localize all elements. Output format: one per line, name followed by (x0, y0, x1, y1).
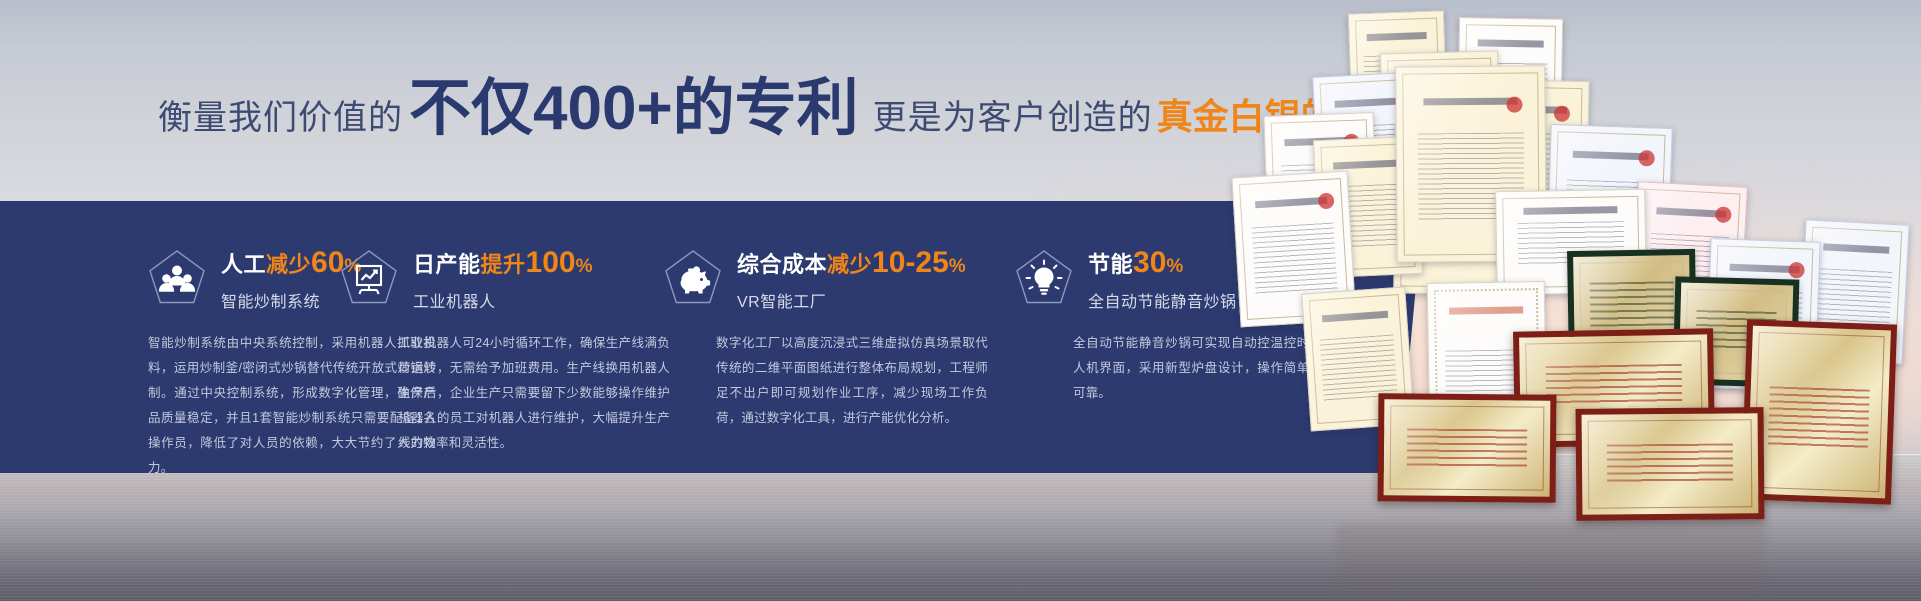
card-subtitle: VR智能工厂 (737, 288, 966, 312)
card-title-prefix: 综合成本 (737, 252, 827, 277)
card-title-unit: % (949, 256, 966, 277)
feature-card-daily-capacity[interactable]: 日产能提升100% 工业机器人 工业机器人可24小时循环工作，确保生产线满负荷运… (330, 201, 656, 473)
card-header: 人工减少60% 智能炒制系统 (148, 247, 330, 309)
card-title-prefix: 日产能 (413, 252, 481, 277)
headline-middle: 更是为客户创造的 (873, 90, 1153, 139)
card-heading-text: 日产能提升100% 工业机器人 (413, 244, 593, 312)
card-title-prefix: 人工 (221, 252, 266, 277)
card-title-emphasis: 提升 (481, 252, 526, 277)
stack-reflection (1336, 524, 1766, 601)
card-title-number: 30 (1133, 246, 1166, 279)
card-title-unit: % (576, 256, 593, 277)
award-plaque-item (1378, 393, 1557, 503)
feature-card-total-cost[interactable]: 综合成本减少10-25% VR智能工厂 数字化工厂以高度沉浸式三维虚拟仿真场景取… (656, 201, 993, 473)
card-title-number: 10-25 (872, 246, 949, 279)
card-title: 日产能提升100% (413, 246, 593, 281)
piggy-bank-icon (664, 249, 722, 307)
banner-stage: 衡量我们价值的 不仅400+的专利 更是为客户创造的 真金白银的效益 (0, 0, 1921, 601)
card-body-text: 数字化工厂以高度沉浸式三维虚拟仿真场景取代传统的二维平面图纸进行整体布局规划，工… (716, 331, 988, 431)
headline-emphasis: 不仅400+的专利 (409, 78, 859, 140)
card-title-prefix: 节能 (1088, 252, 1133, 277)
chart-presentation-icon (340, 249, 398, 307)
headline-lead: 衡量我们价值的 (158, 90, 403, 139)
card-header: 日产能提升100% 工业机器人 (340, 247, 656, 309)
card-heading-text: 综合成本减少10-25% VR智能工厂 (737, 244, 966, 312)
card-title-emphasis: 减少 (827, 252, 872, 277)
card-header: 综合成本减少10-25% VR智能工厂 (664, 247, 993, 309)
award-plaque-item (1741, 319, 1897, 504)
card-body-text: 工业机器人可24小时循环工作，确保生产线满负荷运转，无需给予加班费用。生产线换用… (398, 331, 670, 456)
card-subtitle: 工业机器人 (413, 288, 593, 312)
lightbulb-icon (1015, 249, 1073, 307)
card-title-unit: % (1166, 256, 1183, 277)
feature-card-labor-reduction[interactable]: 人工减少60% 智能炒制系统 智能炒制系统由中央系统控制，采用机器人抓取投料，运… (0, 201, 330, 473)
people-group-icon (148, 249, 206, 307)
card-title-emphasis: 减少 (266, 252, 311, 277)
card-title: 综合成本减少10-25% (737, 246, 966, 281)
certificate-stack (1196, 22, 1921, 522)
award-plaque-item (1576, 407, 1765, 521)
card-title-number: 100 (526, 246, 576, 279)
